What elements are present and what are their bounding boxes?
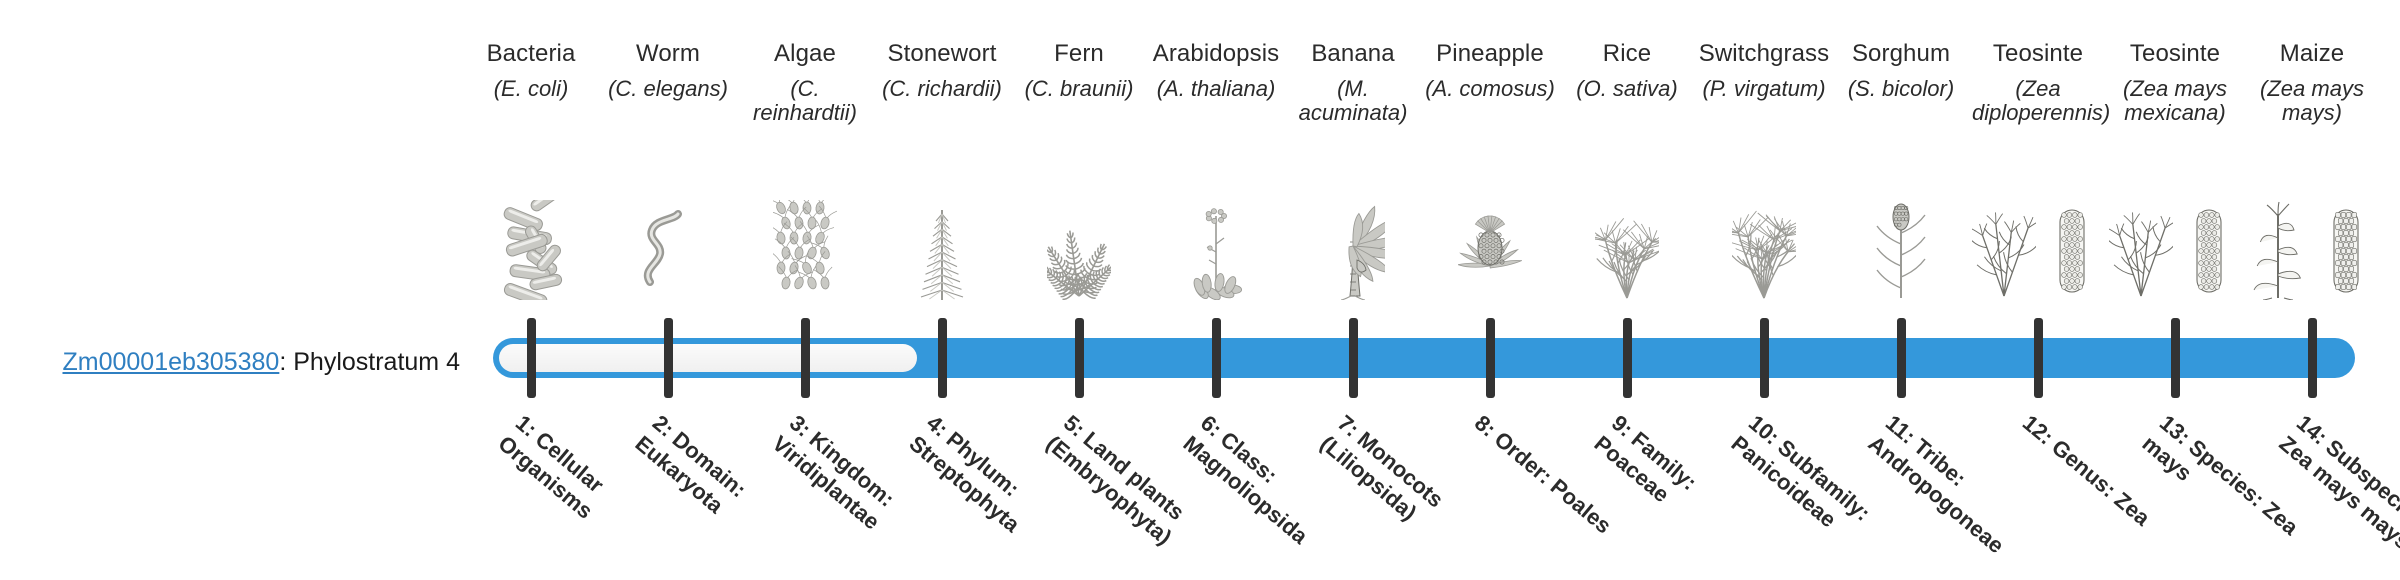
tick-mark: [1623, 318, 1632, 398]
species-common-name: Stonewort: [876, 40, 1008, 68]
species-common-name: Maize: [2246, 40, 2378, 68]
species-column: Fern(C. braunii): [1013, 40, 1145, 101]
species-column: Rice(O. sativa): [1561, 40, 1693, 101]
species-common-name: Arabidopsis: [1150, 40, 1282, 68]
species-scientific-name: (E. coli): [465, 77, 597, 102]
bacteria-rods-icon: [499, 200, 563, 300]
species-column: Banana(M. acuminata): [1287, 40, 1419, 126]
gene-phylostratum-label: Zm00001eb305380: Phylostratum 4: [40, 348, 460, 377]
tick-mark: [1486, 318, 1495, 398]
species-scientific-name: (C. braunii): [1013, 77, 1145, 102]
switchgrass-icon: [1732, 200, 1796, 300]
species-scientific-name: (A. thaliana): [1150, 77, 1282, 102]
pineapple-plant-icon: [1458, 200, 1522, 300]
tick-mark: [1075, 318, 1084, 398]
tick-mark: [2308, 318, 2317, 398]
species-scientific-name: (C. richardii): [876, 77, 1008, 102]
tick-mark: [1760, 318, 1769, 398]
tick-mark: [801, 318, 810, 398]
gene-id-link[interactable]: Zm00001eb305380: [62, 348, 279, 376]
species-common-name: Worm: [602, 40, 734, 68]
teosinte-plant-ear-icon: [2109, 200, 2241, 300]
species-column: Maize(Zea mays mays): [2246, 40, 2378, 126]
species-common-name: Switchgrass: [1698, 40, 1830, 68]
species-common-name: Teosinte: [2109, 40, 2241, 68]
species-common-name: Pineapple: [1424, 40, 1556, 68]
rank-name: Cellular Organisms: [494, 427, 609, 524]
fern-frond-icon: [1047, 200, 1111, 300]
algae-cells-icon: [773, 200, 837, 300]
gene-label-separator: :: [279, 348, 293, 376]
tick-mark: [2171, 318, 2180, 398]
species-column: Bacteria(E. coli): [465, 40, 597, 101]
phylostratum-text: Phylostratum 4: [293, 348, 460, 376]
species-column: Sorghum(S. bicolor): [1835, 40, 1967, 101]
species-common-name: Teosinte: [1972, 40, 2104, 68]
arabidopsis-rosette-icon: [1184, 200, 1248, 300]
tick-mark: [1349, 318, 1358, 398]
species-column: Teosinte(Zea diploperennis): [1972, 40, 2104, 126]
species-scientific-name: (Zea diploperennis): [1972, 77, 2104, 126]
banana-plant-icon: [1321, 200, 1385, 300]
phylostratum-progress-bar[interactable]: [493, 338, 2355, 378]
species-column: Worm(C. elegans): [602, 40, 734, 101]
species-scientific-name: (M. acuminata): [1287, 77, 1419, 126]
maize-plant-ear-icon: [2246, 200, 2378, 300]
tick-mark: [938, 318, 947, 398]
rank-name: Domain: Eukaryota: [631, 427, 751, 519]
tick-mark: [664, 318, 673, 398]
tick-mark: [527, 318, 536, 398]
species-scientific-name: (Zea mays mays): [2246, 77, 2378, 126]
species-scientific-name: (O. sativa): [1561, 77, 1693, 102]
species-common-name: Banana: [1287, 40, 1419, 68]
species-column: Stonewort(C. richardii): [876, 40, 1008, 101]
species-scientific-name: (P. virgatum): [1698, 77, 1830, 102]
species-column: Switchgrass(P. virgatum): [1698, 40, 1830, 101]
rank-name: Family: Poaceae: [1590, 427, 1702, 508]
species-scientific-name: (A. comosus): [1424, 77, 1556, 102]
rice-plant-icon: [1595, 200, 1659, 300]
tick-mark: [2034, 318, 2043, 398]
tick-mark: [1897, 318, 1906, 398]
rank-name: Monocots (Liliopsida): [1316, 427, 1449, 526]
phylostratum-timeline: Zm00001eb305380: Phylostratum 4 Bacteria…: [0, 0, 2400, 580]
phylostratum-bar-unfilled: [499, 344, 917, 372]
species-common-name: Sorghum: [1835, 40, 1967, 68]
rank-number: 12:: [2018, 410, 2058, 450]
species-column: Arabidopsis(A. thaliana): [1150, 40, 1282, 101]
nematode-worm-icon: [636, 200, 700, 300]
species-scientific-name: (Zea mays mexicana): [2109, 77, 2241, 126]
sorghum-plant-icon: [1869, 200, 1933, 300]
species-column: Algae(C. reinhardtii): [739, 40, 871, 126]
species-common-name: Algae: [739, 40, 871, 68]
tick-mark: [1212, 318, 1221, 398]
species-common-name: Rice: [1561, 40, 1693, 68]
species-column: Teosinte(Zea mays mexicana): [2109, 40, 2241, 126]
species-common-name: Bacteria: [465, 40, 597, 68]
species-scientific-name: (C. reinhardtii): [739, 77, 871, 126]
species-scientific-name: (S. bicolor): [1835, 77, 1967, 102]
species-column: Pineapple(A. comosus): [1424, 40, 1556, 101]
stonewort-icon: [910, 200, 974, 300]
teosinte-plant-ear-icon: [1972, 200, 2104, 300]
species-scientific-name: (C. elegans): [602, 77, 734, 102]
species-common-name: Fern: [1013, 40, 1145, 68]
